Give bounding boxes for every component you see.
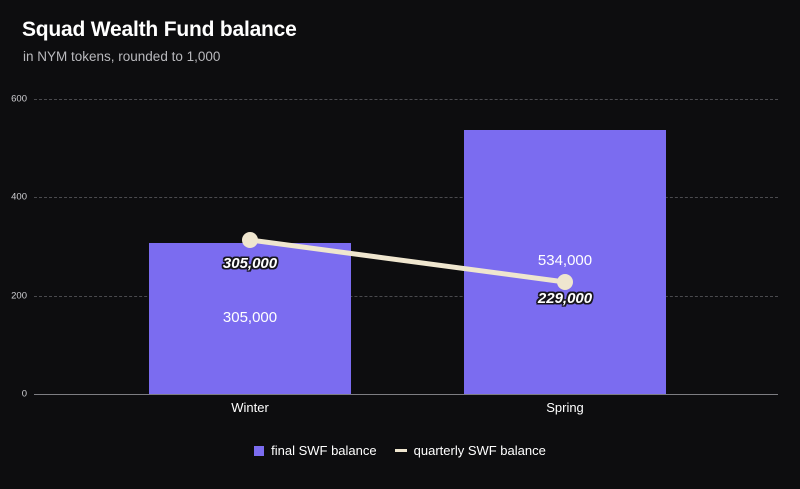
gridline-400 bbox=[34, 197, 778, 198]
plot-area: 600 400 200 0 305,000 534,000 Winter Spr… bbox=[0, 0, 800, 430]
chart-legend: final SWF balance quarterly SWF balance bbox=[0, 443, 800, 458]
line-series-layer bbox=[0, 0, 800, 430]
gridline-600 bbox=[34, 99, 778, 100]
x-axis-tick-winter: Winter bbox=[231, 400, 269, 415]
gridline-0 bbox=[34, 394, 778, 395]
legend-square-icon bbox=[254, 446, 264, 456]
y-axis-tick-0: 0 bbox=[0, 389, 27, 400]
bar-value-winter: 305,000 bbox=[223, 309, 277, 326]
y-axis-tick-200: 200 bbox=[0, 291, 27, 302]
line-value-winter: 305,000 bbox=[223, 255, 277, 272]
x-axis-tick-spring: Spring bbox=[546, 400, 584, 415]
gridline-200 bbox=[34, 296, 778, 297]
line-value-spring: 229,000 bbox=[538, 290, 592, 307]
chart-container: Squad Wealth Fund balance in NYM tokens,… bbox=[0, 0, 800, 489]
legend-item-quarterly-swf-balance[interactable]: quarterly SWF balance bbox=[395, 443, 546, 458]
legend-dash-icon bbox=[395, 449, 407, 452]
legend-item-final-swf-balance[interactable]: final SWF balance bbox=[254, 443, 377, 458]
bar-value-spring: 534,000 bbox=[538, 252, 592, 269]
legend-label-line: quarterly SWF balance bbox=[414, 443, 546, 458]
y-axis-tick-400: 400 bbox=[0, 192, 27, 203]
y-axis-tick-600: 600 bbox=[0, 94, 27, 105]
legend-label-bar: final SWF balance bbox=[271, 443, 377, 458]
